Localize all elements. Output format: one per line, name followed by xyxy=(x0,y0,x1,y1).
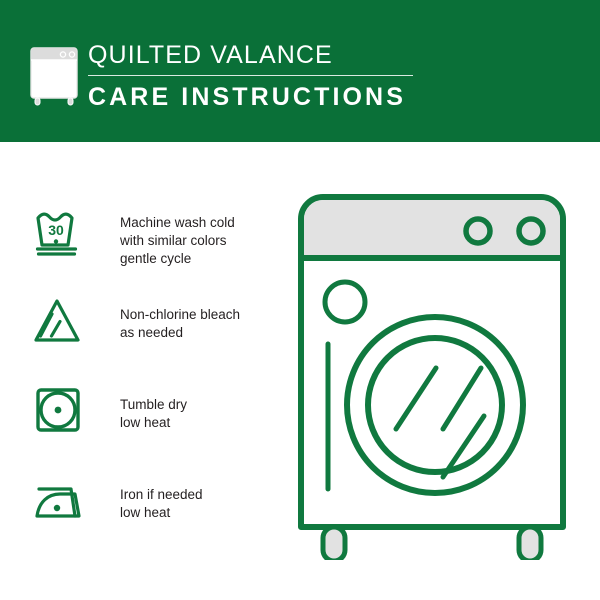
care-instruction-text: Iron if needed low heat xyxy=(120,472,203,522)
care-instructions-card: QUILTED VALANCE CARE INSTRUCTIONS 30 Mac xyxy=(0,0,600,600)
washer-knob-icon xyxy=(466,219,490,243)
washer-knob-icon xyxy=(519,219,543,243)
header-title-group: QUILTED VALANCE CARE INSTRUCTIONS xyxy=(88,40,558,112)
iron-low-heat-icon xyxy=(30,472,92,534)
care-instruction-row-bleach: Non-chlorine bleach as needed xyxy=(30,292,280,354)
care-instruction-row-iron: Iron if needed low heat xyxy=(30,472,280,534)
washer-foot xyxy=(519,527,541,560)
care-instruction-text: Machine wash cold with similar colors ge… xyxy=(120,204,235,268)
wash-temperature-value: 30 xyxy=(48,222,64,238)
care-instruction-row-machine-wash: 30 Machine wash cold with similar colors… xyxy=(30,204,280,268)
washing-machine-logo-icon xyxy=(26,44,82,106)
title-divider xyxy=(88,75,413,76)
header-banner: QUILTED VALANCE CARE INSTRUCTIONS xyxy=(0,0,600,142)
page-title: QUILTED VALANCE xyxy=(88,40,558,70)
washer-foot xyxy=(323,527,345,560)
front-load-washing-machine-illustration xyxy=(296,192,568,560)
page-subtitle: CARE INSTRUCTIONS xyxy=(88,82,558,112)
tumble-dry-low-heat-icon xyxy=(30,382,92,444)
care-instruction-text: Non-chlorine bleach as needed xyxy=(120,292,240,342)
machine-wash-30-gentle-icon: 30 xyxy=(30,204,92,266)
care-instruction-text: Tumble dry low heat xyxy=(120,382,187,432)
content-area: 30 Machine wash cold with similar colors… xyxy=(0,142,600,600)
care-instruction-row-tumble-dry: Tumble dry low heat xyxy=(30,382,280,444)
non-chlorine-bleach-icon xyxy=(30,292,92,354)
